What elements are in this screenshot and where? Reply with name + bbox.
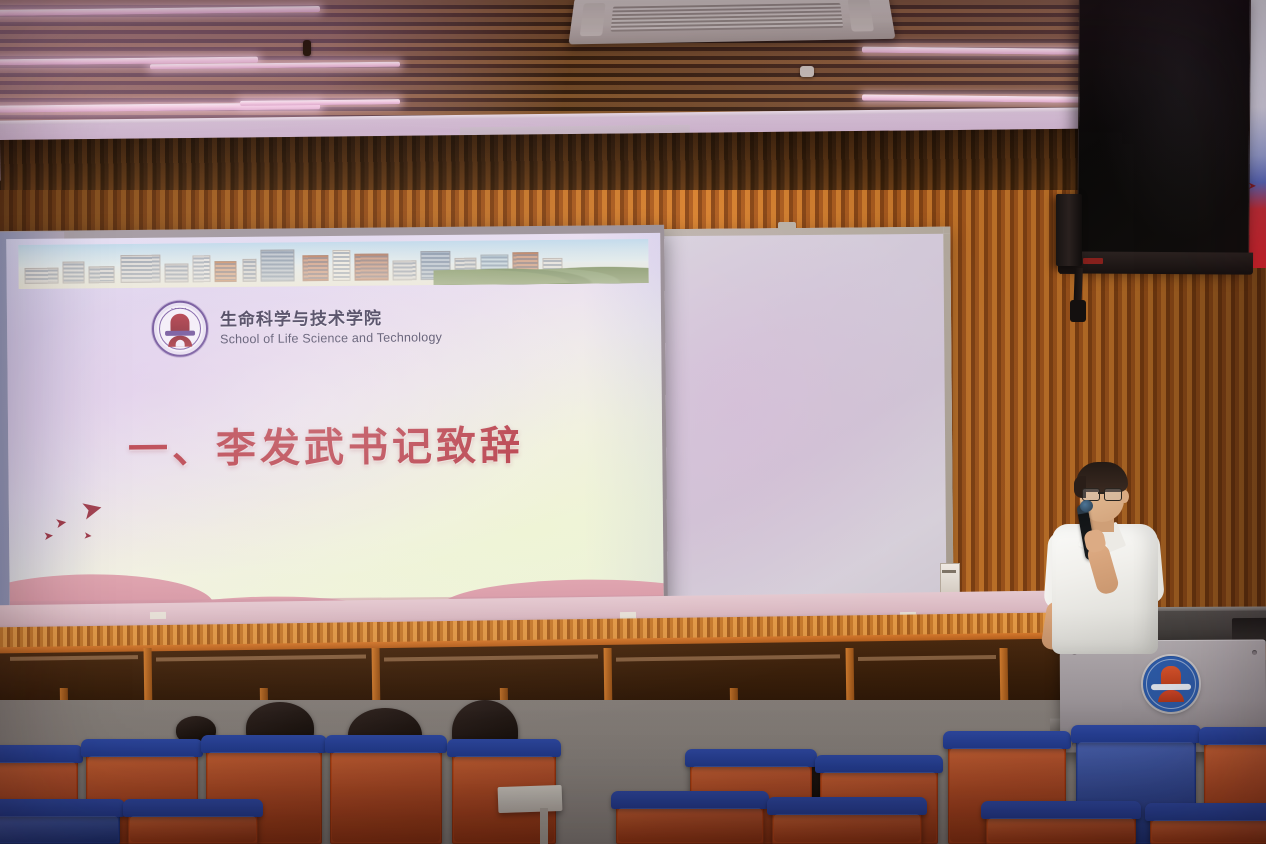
screen-bracket	[150, 612, 166, 619]
emblem-bell-shape	[170, 314, 189, 332]
auditorium-seat	[128, 812, 258, 844]
auditorium-seat	[330, 748, 442, 844]
slide-title: 一、李发武书记致辞	[128, 413, 549, 475]
ac-grill	[611, 3, 844, 32]
display-reflection	[1078, 0, 1250, 266]
emblem-gate-shape	[168, 336, 192, 347]
whiteboard-bracket	[778, 222, 796, 230]
auditorium-seat	[772, 810, 922, 844]
table-leg	[540, 808, 548, 844]
speaker-person	[1030, 452, 1180, 682]
auditorium-seat	[0, 812, 120, 844]
auditorium-seat	[1150, 816, 1266, 844]
university-emblem-icon: •••••	[152, 300, 209, 357]
auditorium-seat	[616, 804, 764, 844]
wall-mounted-display[interactable]	[1077, 0, 1251, 267]
ac-vane	[848, 0, 874, 32]
lecture-hall-photo: ➤ ➤	[0, 0, 1266, 844]
display-brand-badge	[1083, 258, 1103, 264]
slide-school-identity: ••••• 生命科学与技术学院 School of Life Science a…	[152, 294, 573, 360]
slide-campus-banner	[18, 239, 648, 289]
wall-plate-slot	[942, 570, 956, 573]
ceiling-fitting	[303, 40, 311, 56]
glasses-lens	[1104, 488, 1122, 501]
school-name-en: School of Life Science and Technology	[220, 330, 442, 346]
smoke-detector-icon	[800, 66, 814, 77]
auditorium-seat	[986, 814, 1136, 844]
ac-vane	[580, 3, 606, 36]
small-table	[498, 785, 563, 813]
bird-icon: ➤	[54, 515, 68, 531]
ceiling-ac-cassette	[568, 0, 895, 44]
wall-speaker	[1056, 194, 1082, 266]
school-name-cn: 生命科学与技术学院	[220, 308, 442, 330]
glasses-icon	[1082, 488, 1122, 499]
speaker-head	[1070, 300, 1086, 322]
banner-fade	[18, 239, 648, 289]
whiteboard	[646, 227, 954, 634]
podium-screw	[1252, 650, 1257, 655]
glasses-lens	[1082, 488, 1100, 501]
